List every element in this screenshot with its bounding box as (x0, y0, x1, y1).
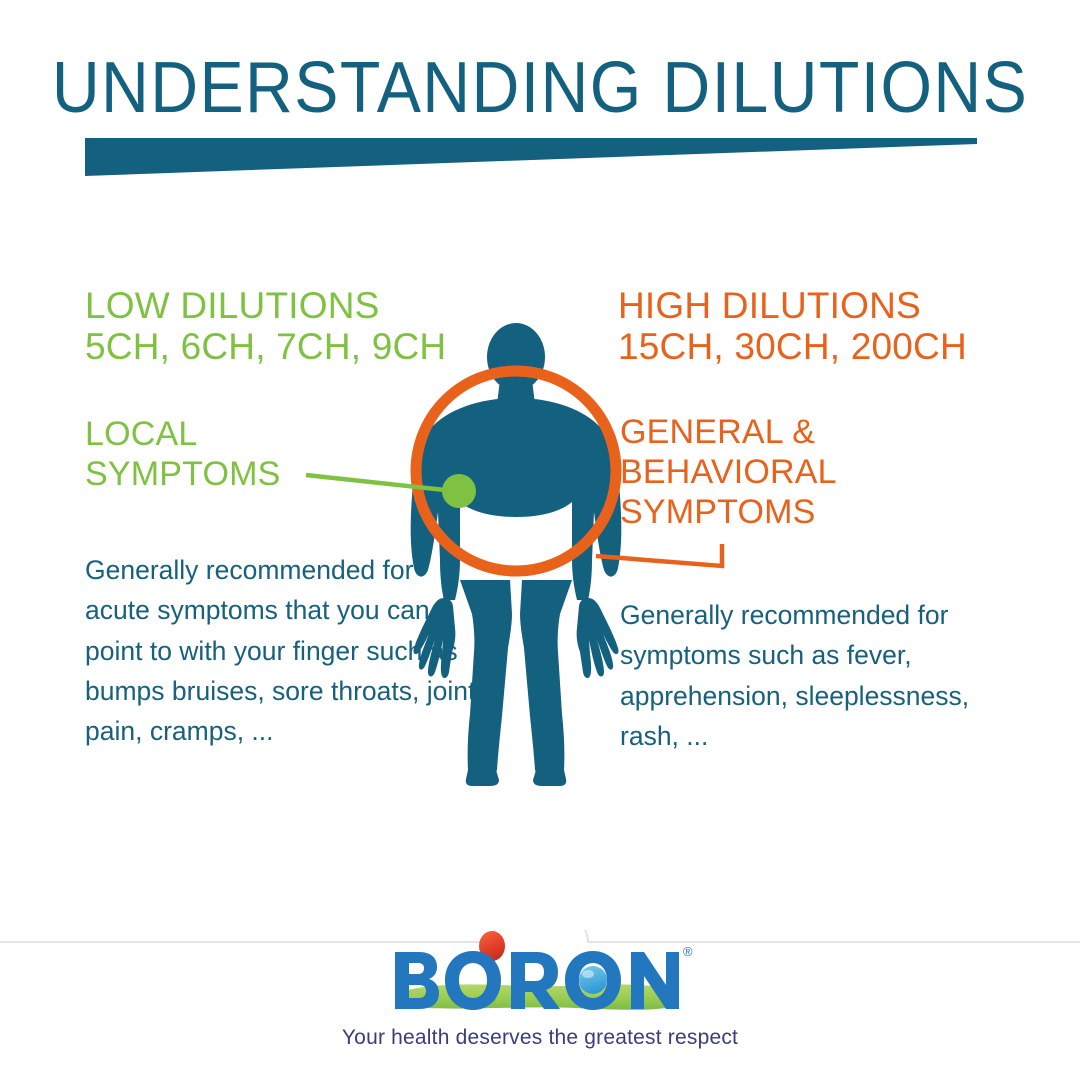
orange-circle (416, 371, 616, 571)
low-dilutions-heading-line1: LOW DILUTIONS (85, 285, 380, 326)
general-symptoms-description: Generally recommended for symptoms such … (620, 595, 1010, 756)
local-symptoms-description: Generally recommended for acute symptoms… (85, 550, 485, 751)
boiron-logo: ® (385, 930, 695, 1022)
general-symptoms-heading-line1: GENERAL & (620, 413, 837, 453)
green-leader-line (306, 475, 454, 491)
low-dilutions-heading: LOW DILUTIONS 5CH, 6CH, 7CH, 9CH (85, 285, 446, 368)
title-underline-wedge (85, 138, 977, 176)
logo-pill-highlight (582, 970, 594, 978)
high-dilutions-heading-line1: HIGH DILUTIONS (618, 285, 921, 326)
general-symptoms-heading: GENERAL & BEHAVIORAL SYMPTOMS (620, 413, 837, 532)
infographic-canvas: UNDERSTANDING DILUTIONS LOW DILUTIONS 5C… (0, 0, 1080, 1080)
orange-elbow-leader-line (596, 544, 722, 566)
green-dot-marker (442, 474, 476, 508)
low-dilutions-heading-line2: 5CH, 6CH, 7CH, 9CH (85, 326, 446, 367)
local-symptoms-heading: LOCAL SYMPTOMS (85, 415, 281, 495)
page-title: UNDERSTANDING DILUTIONS (43, 52, 1037, 124)
high-dilutions-heading: HIGH DILUTIONS 15CH, 30CH, 200CH (618, 285, 967, 368)
brand-tagline: Your health deserves the greatest respec… (0, 1026, 1080, 1050)
general-symptoms-heading-line3: SYMPTOMS (620, 493, 837, 533)
registered-mark-icon: ® (683, 944, 693, 959)
logo-pill-icon (579, 966, 607, 994)
brand-logo-block: ® Your health deserves the greatest resp… (0, 930, 1080, 1050)
local-symptoms-heading-line2: SYMPTOMS (85, 455, 281, 495)
general-symptoms-heading-line2: BEHAVIORAL (620, 453, 837, 493)
high-dilutions-heading-line2: 15CH, 30CH, 200CH (618, 326, 967, 367)
local-symptoms-heading-line1: LOCAL (85, 415, 281, 455)
